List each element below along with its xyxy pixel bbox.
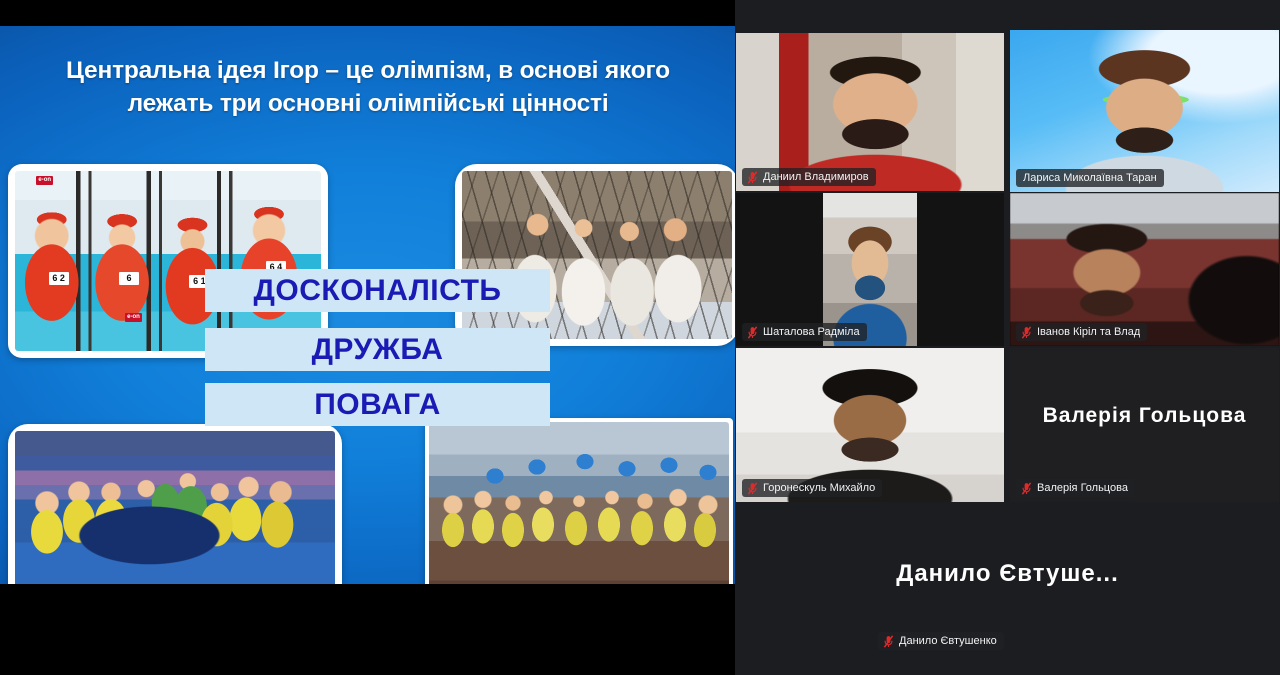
photo-delegation-parade: [425, 418, 733, 584]
photo-parade-image: [429, 422, 729, 584]
participant-name-chip: Валерія Гольцова: [1016, 479, 1135, 497]
mic-muted-icon: [747, 326, 758, 339]
participant-tile-danylo-yevtushenko[interactable]: Данило Євтуше... Данило Євтушенко: [736, 504, 1279, 674]
participant-rail: Даниил Владимиров Лариса Миколаївна Тара…: [735, 0, 1280, 675]
photo-biathlon-image: 6 2 6 6 1 6 4 e-on e-on: [15, 171, 321, 351]
shared-screen-area[interactable]: Центральна ідея Ігор – це олімпізм, в ос…: [0, 0, 735, 675]
slide-title-line-2: лежать три основні олімпійські цінності: [34, 88, 702, 121]
participant-tile-horoneskul-mykhailo[interactable]: Горонескуль Михайло: [736, 348, 1004, 502]
bib-number: 6 2: [49, 272, 69, 285]
participant-name: Горонескуль Михайло: [763, 481, 875, 495]
participant-name: Лариса Миколаївна Таран: [1023, 171, 1157, 185]
video-conference-screen: Центральна ідея Ігор – це олімпізм, в ос…: [0, 0, 1280, 675]
participant-name-chip: Даниил Владимиров: [742, 168, 876, 186]
mic-muted-icon: [747, 482, 758, 495]
participant-tile-larysa-taran[interactable]: Лариса Миколаївна Таран: [1010, 30, 1279, 192]
participant-tile-shatalova-radmila[interactable]: Шаталова Радміла: [736, 193, 1004, 346]
slide-title: Центральна ідея Ігор – це олімпізм, в ос…: [34, 55, 702, 120]
participant-name-chip: Іванов Кіріл та Влад: [1016, 323, 1147, 341]
participant-display-name: Валерія Гольцова: [1010, 404, 1279, 428]
sponsor-logo: e-on: [36, 176, 53, 185]
mic-muted-icon: [747, 171, 758, 184]
mic-muted-icon: [1021, 326, 1032, 339]
participant-name-chip: Горонескуль Михайло: [742, 479, 882, 497]
participant-tile-valeriia-holtsova[interactable]: Валерія Гольцова Валерія Гольцова: [1010, 348, 1279, 502]
slide-title-line-1: Центральна ідея Ігор – це олімпізм, в ос…: [34, 55, 702, 88]
photo-fencing-team: [455, 164, 735, 346]
participant-name: Данило Євтушенко: [899, 634, 997, 648]
photo-swimming-team: FINA (Official publicatio: [8, 424, 342, 584]
participant-name: Даниил Владимиров: [763, 170, 869, 184]
participant-name: Іванов Кіріл та Влад: [1037, 325, 1140, 339]
mic-muted-icon: [1021, 482, 1032, 495]
participant-tile-daniil-vladimirov[interactable]: Даниил Владимиров: [736, 33, 1004, 191]
olympic-value-friendship: ДРУЖБА: [205, 328, 550, 371]
sponsor-logo: e-on: [125, 313, 142, 322]
participant-name-chip: Данило Євтушенко: [878, 632, 1004, 650]
participant-name-chip: Шаталова Радміла: [742, 323, 867, 341]
mic-muted-icon: [883, 635, 894, 648]
photo-swimming-image: FINA (Official publicatio: [15, 431, 335, 584]
participant-name: Шаталова Радміла: [763, 325, 860, 339]
participant-display-name: Данило Євтуше...: [736, 560, 1279, 588]
presentation-slide: Центральна ідея Ігор – це олімпізм, в ос…: [0, 26, 735, 584]
olympic-value-respect: ПОВАГА: [205, 383, 550, 426]
participant-tile-ivanov-kiril-ta-vlad[interactable]: Іванов Кіріл та Влад: [1010, 193, 1279, 346]
participant-name-chip: Лариса Миколаївна Таран: [1016, 169, 1164, 187]
olympic-value-excellence: ДОСКОНАЛІСТЬ: [205, 269, 550, 312]
photo-fencing-image: [462, 171, 732, 339]
participant-video-feed: [1010, 30, 1279, 192]
bib-number: 6: [119, 272, 139, 285]
participant-name: Валерія Гольцова: [1037, 481, 1128, 495]
